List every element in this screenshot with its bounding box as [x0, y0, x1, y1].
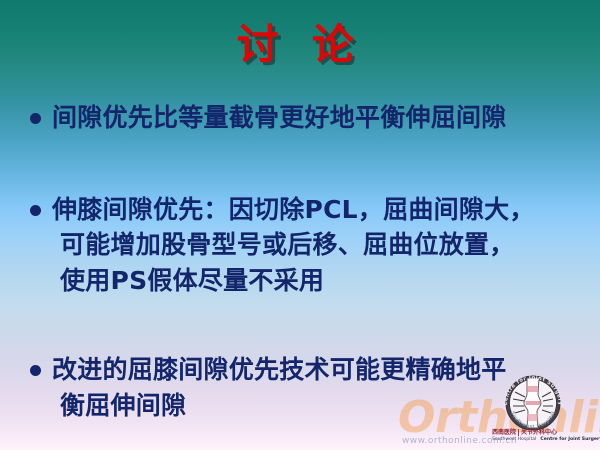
logo-caption-en: Southwest Hospital: [492, 437, 536, 444]
bullet-text: 间隙优先比等量截骨更好地平衡伸屈间隙: [52, 100, 575, 136]
bullet-dot-icon: [30, 100, 52, 124]
logo-caption: 西南医院 关节外科中心 Southwest Hospital Centre fo…: [492, 428, 600, 446]
logo-caption-en-bold: Centre for Joint Surgery: [540, 437, 600, 444]
bullet-dot-icon: [30, 192, 52, 216]
spacer: [30, 162, 575, 192]
page-title: 讨 论: [237, 24, 363, 66]
bullet-item-2: 伸膝间隙优先：因切除PCL，屈曲间隙大， 可能增加股骨型号或后移、屈曲位放置， …: [30, 192, 575, 299]
bullet-line-continuation: 衡屈伸间隙: [30, 388, 575, 424]
logo-caption-row-1: 西南医院 关节外科中心: [492, 428, 600, 437]
bullet-indent-spacer: [30, 263, 52, 287]
bullet-line-continuation: 可能增加股骨型号或后移、屈曲位放置，: [30, 227, 575, 263]
bullet-line: 改进的屈膝间隙优先技术可能更精确地平: [30, 352, 575, 388]
logo-caption-cn: 西南医院: [492, 428, 516, 437]
logo-caption-row-2: Southwest Hospital Centre for Joint Surg…: [492, 437, 600, 444]
bullet-text: 可能增加股骨型号或后移、屈曲位放置，: [52, 227, 575, 263]
centre-for-joint-surgery-logo: Centre for Joint Surgery Southwest Hospi…: [497, 372, 569, 434]
slide-body: 间隙优先比等量截骨更好地平衡伸屈间隙 伸膝间隙优先：因切除PCL，屈曲间隙大， …: [30, 100, 575, 449]
bullet-text: 使用PS假体尽量不采用: [52, 263, 575, 299]
presentation-slide: 讨 论 间隙优先比等量截骨更好地平衡伸屈间隙 伸膝间隙优先：因切除PCL，屈曲间…: [0, 0, 600, 450]
bullet-line: 伸膝间隙优先：因切除PCL，屈曲间隙大，: [30, 192, 575, 228]
bullet-dot-icon: [30, 352, 52, 376]
spacer: [30, 324, 575, 352]
bullet-item-3: 改进的屈膝间隙优先技术可能更精确地平 衡屈伸间隙: [30, 352, 575, 423]
bullet-line-continuation: 使用PS假体尽量不采用: [30, 263, 575, 299]
bullet-indent-spacer: [30, 227, 52, 251]
bullet-item-1: 间隙优先比等量截骨更好地平衡伸屈间隙: [30, 100, 575, 136]
bullet-line: 间隙优先比等量截骨更好地平衡伸屈间隙: [30, 100, 575, 136]
slide-title-container: 讨 论: [0, 24, 600, 66]
bullet-text: 伸膝间隙优先：因切除PCL，屈曲间隙大，: [52, 192, 575, 228]
logo-caption-cn-sub: 关节外科中心: [521, 428, 557, 437]
divider: [518, 429, 519, 436]
bullet-indent-spacer: [30, 388, 52, 412]
